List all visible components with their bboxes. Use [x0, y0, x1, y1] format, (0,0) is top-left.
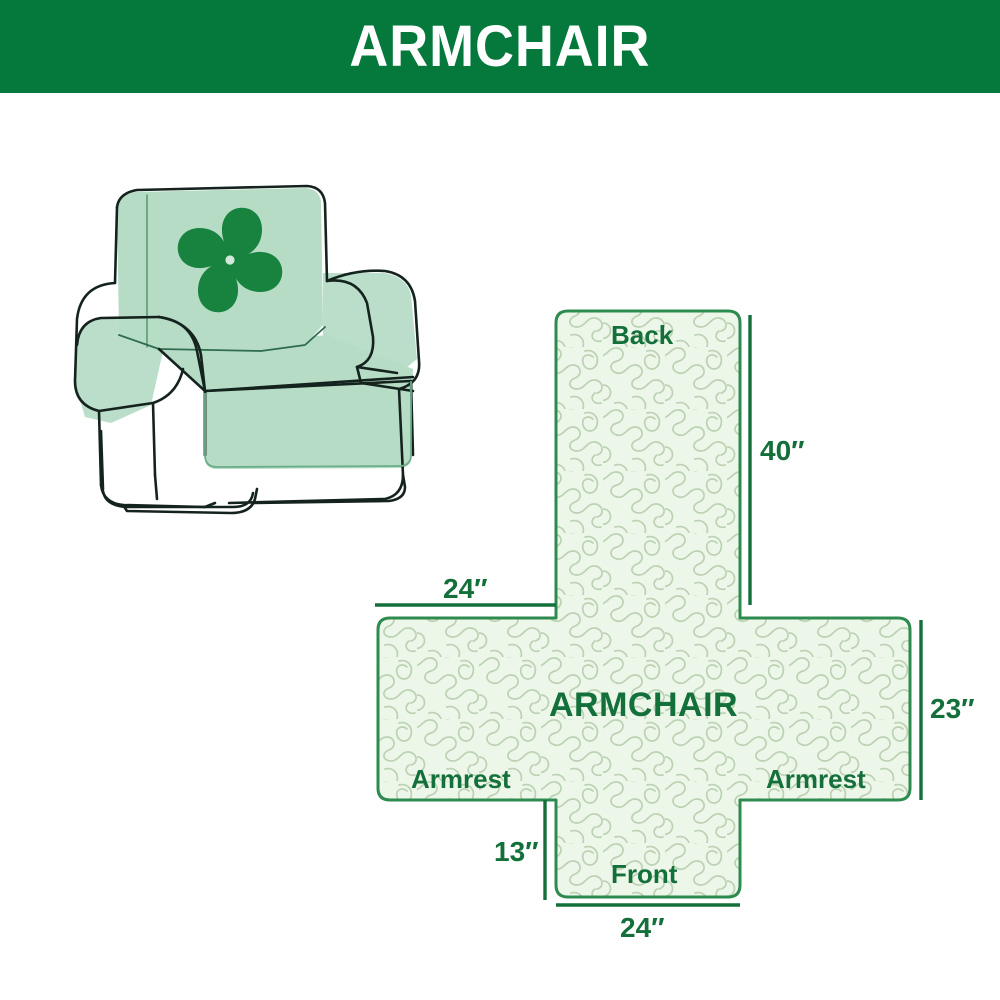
panel-label-armrest-right: Armrest	[766, 766, 866, 792]
dimension-front-height: 13″	[494, 838, 539, 866]
slipcover-flat-pattern	[355, 285, 1000, 925]
header-banner: ARMCHAIR	[0, 0, 1000, 93]
product-dimension-diagram: ARMCHAIR	[0, 0, 1000, 1000]
panel-label-armrest-left: Armrest	[411, 766, 511, 792]
page-title: ARMCHAIR	[349, 18, 650, 76]
pattern-title: ARMCHAIR	[549, 688, 738, 722]
dimension-back-width: 24″	[443, 575, 488, 603]
panel-label-front: Front	[611, 861, 677, 887]
dimension-back-height: 40″	[760, 437, 805, 465]
dimension-front-width: 24″	[620, 914, 665, 942]
dimension-body-height: 23″	[930, 695, 975, 723]
panel-label-back: Back	[611, 322, 673, 348]
